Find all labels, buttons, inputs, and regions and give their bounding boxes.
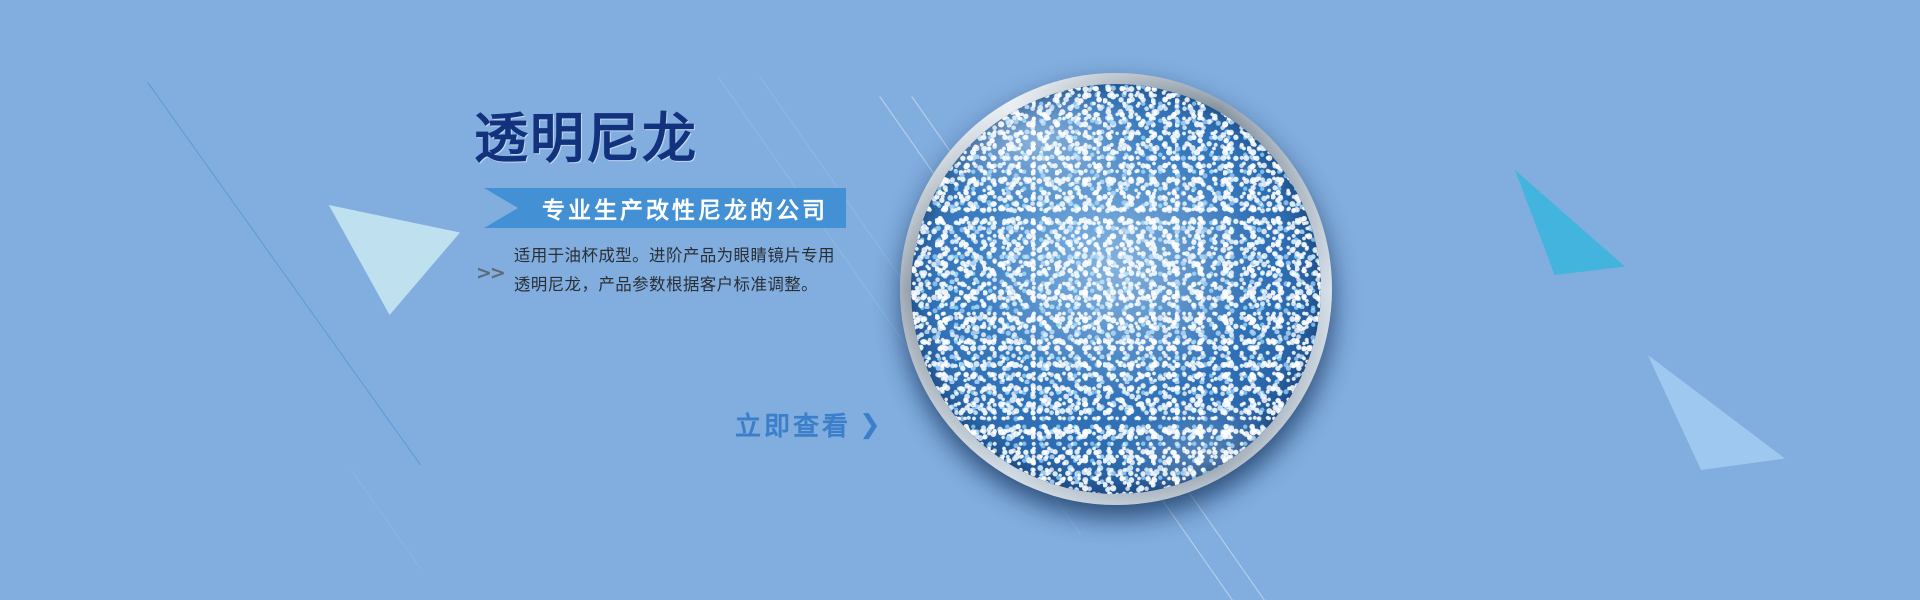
view-now-label: 立即查看 <box>735 406 851 443</box>
hero-banner: 透明尼龙 专业生产改性尼龙的公司 >> 适用于油杯成型。进阶产品为眼睛镜片专用 … <box>0 0 1920 600</box>
dish-interior <box>911 84 1321 494</box>
tagline-text: 专业生产改性尼龙的公司 <box>542 191 828 225</box>
page-title: 透明尼龙 <box>470 112 940 166</box>
description-line-1: 适用于油杯成型。进阶产品为眼睛镜片专用 <box>514 242 835 271</box>
tagline-ribbon-row: 专业生产改性尼龙的公司 <box>470 188 940 228</box>
description-line-2: 透明尼龙，产品参数根据客户标准调整。 <box>514 271 835 300</box>
description-block: >> 适用于油杯成型。进阶产品为眼睛镜片专用 透明尼龙，产品参数根据客户标准调整… <box>470 242 940 300</box>
pellet-highlight-mound <box>936 109 1297 470</box>
tagline-ribbon: 专业生产改性尼龙的公司 <box>484 188 846 228</box>
description-text: 适用于油杯成型。进阶产品为眼睛镜片专用 透明尼龙，产品参数根据客户标准调整。 <box>514 242 835 300</box>
double-chevron-icon: >> <box>476 258 504 283</box>
chevron-right-icon: ❯ <box>859 412 884 438</box>
view-now-button[interactable]: 立即查看 ❯ <box>735 406 884 443</box>
hero-copy-block: 透明尼龙 专业生产改性尼龙的公司 >> 适用于油杯成型。进阶产品为眼睛镜片专用 … <box>470 112 940 300</box>
product-image <box>880 55 1360 545</box>
